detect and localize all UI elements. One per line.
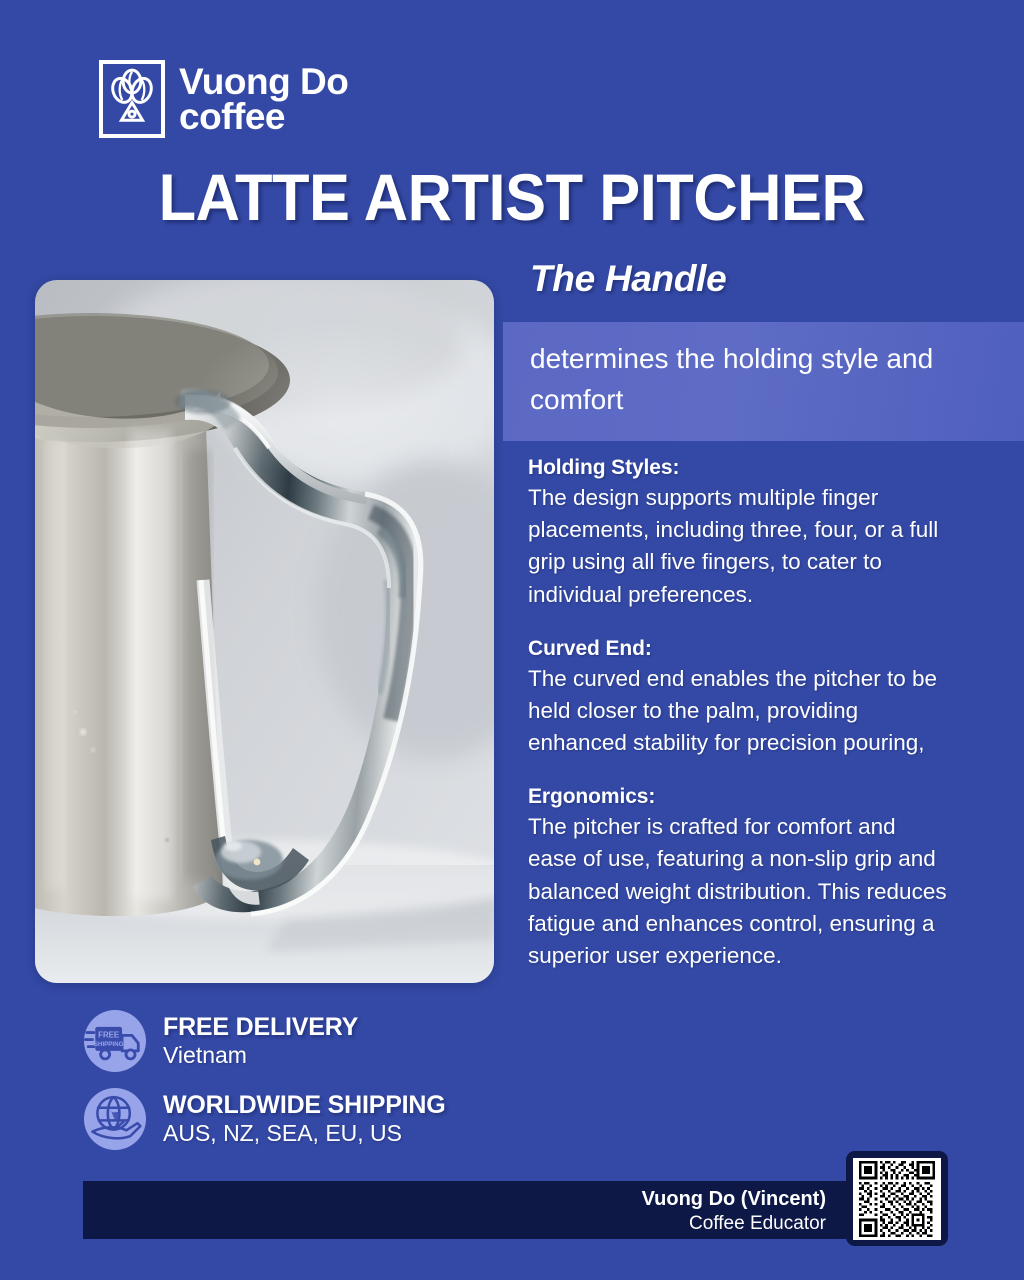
footer-bar: Vuong Do (Vincent) Coffee Educator: [83, 1181, 846, 1239]
coffee-beans-mark-icon: [99, 60, 165, 138]
brand-line-2: coffee: [179, 99, 348, 134]
brand-line-1: Vuong Do: [179, 64, 348, 99]
badge-worldwide-shipping: WORLDWIDE SHIPPING AUS, NZ, SEA, EU, US: [84, 1088, 446, 1150]
feature-section: Curved End: The curved end enables the p…: [528, 637, 948, 760]
brand-logo: Vuong Do coffee: [99, 60, 348, 138]
qr-code-frame[interactable]: [846, 1151, 948, 1246]
section-body: The pitcher is crafted for comfort and e…: [528, 811, 948, 972]
section-title: Ergonomics:: [528, 785, 948, 809]
truck-icon-label-line1: FREE: [98, 1030, 119, 1039]
badge-text: WORLDWIDE SHIPPING AUS, NZ, SEA, EU, US: [163, 1091, 446, 1147]
shipping-badges: FREE SHIPPING FREE DELIVERY Vietnam: [84, 1010, 446, 1166]
globe-airplane-icon: [84, 1088, 146, 1150]
footer-author-role: Coffee Educator: [642, 1213, 826, 1236]
feature-section: Ergonomics: The pitcher is crafted for c…: [528, 785, 948, 972]
section-title: Curved End:: [528, 637, 948, 661]
truck-icon-label-line2: SHIPPING: [94, 1041, 124, 1048]
footer-author-name: Vuong Do (Vincent): [642, 1187, 826, 1211]
feature-section: Holding Styles: The design supports mult…: [528, 456, 948, 611]
delivery-truck-icon: FREE SHIPPING: [84, 1010, 146, 1072]
feature-tagline: determines the holding style and comfort: [530, 338, 1000, 421]
badge-subtitle: Vietnam: [163, 1043, 358, 1069]
footer-credits: Vuong Do (Vincent) Coffee Educator: [642, 1187, 826, 1236]
badge-subtitle: AUS, NZ, SEA, EU, US: [163, 1121, 446, 1147]
badge-title: FREE DELIVERY: [163, 1013, 358, 1041]
section-title: Holding Styles:: [528, 456, 948, 480]
badge-title: WORLDWIDE SHIPPING: [163, 1091, 446, 1119]
brand-wordmark: Vuong Do coffee: [179, 64, 348, 134]
section-body: The curved end enables the pitcher to be…: [528, 663, 948, 760]
feature-subhead: The Handle: [530, 258, 726, 300]
qr-code-icon[interactable]: [853, 1158, 941, 1240]
badge-text: FREE DELIVERY Vietnam: [163, 1013, 358, 1069]
page-title: LATTE ARTIST PITCHER: [36, 159, 988, 235]
section-body: The design supports multiple finger plac…: [528, 482, 948, 611]
feature-sections: Holding Styles: The design supports mult…: [528, 456, 948, 998]
product-photo: [35, 280, 494, 983]
badge-free-delivery: FREE SHIPPING FREE DELIVERY Vietnam: [84, 1010, 446, 1072]
